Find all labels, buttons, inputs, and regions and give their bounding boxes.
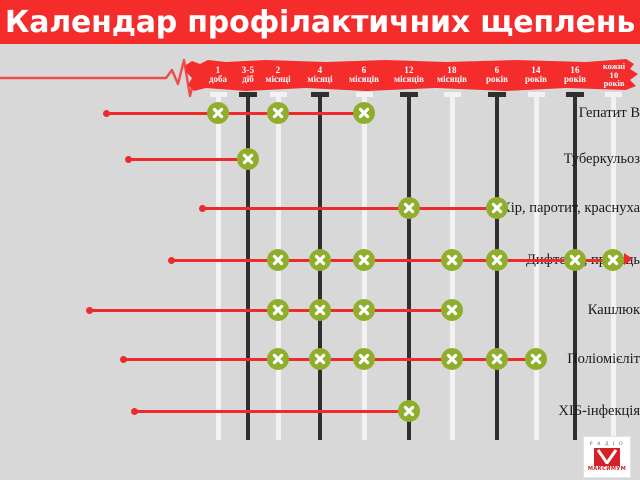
vaccine-row: Поліомієліт: [0, 346, 640, 372]
page-title: Календар профілактичних щеплень: [0, 0, 640, 44]
column-header-unit: доба: [209, 75, 227, 84]
dose-marker[interactable]: [602, 249, 624, 271]
grid-pin-head: [528, 92, 545, 97]
dose-marker[interactable]: [237, 148, 259, 170]
grid-pin-head: [311, 92, 329, 97]
dose-marker[interactable]: [353, 102, 375, 124]
vaccine-row: ХІБ-інфекція: [0, 398, 640, 424]
vaccine-row: Дифтерія, правець: [0, 247, 640, 273]
infographic-canvas: Календар профілактичних щеплень 1 доба 3…: [0, 0, 640, 480]
dose-marker[interactable]: [441, 348, 463, 370]
dose-marker[interactable]: [353, 299, 375, 321]
grid-pin-head: [605, 92, 622, 97]
column-header-4: 4 місяці: [296, 59, 344, 91]
dose-marker[interactable]: [353, 249, 375, 271]
dose-marker[interactable]: [267, 299, 289, 321]
dose-marker[interactable]: [441, 249, 463, 271]
grid-pin-head: [356, 92, 373, 97]
column-header-5: 6 місяців: [339, 59, 389, 91]
title-banner: Календар профілактичних щеплень: [0, 0, 640, 44]
column-header-8: 6 років: [475, 59, 519, 91]
grid-pin-head: [210, 92, 227, 97]
column-header-11: кожні 10 років: [591, 57, 637, 93]
dose-marker[interactable]: [309, 299, 331, 321]
dose-marker[interactable]: [309, 348, 331, 370]
dose-marker[interactable]: [267, 348, 289, 370]
column-header-9: 14 років: [514, 59, 558, 91]
dose-marker[interactable]: [207, 102, 229, 124]
column-header-unit: місяців: [437, 75, 467, 84]
dose-marker[interactable]: [486, 348, 508, 370]
dose-marker[interactable]: [353, 348, 375, 370]
column-header-unit: років: [486, 75, 508, 84]
vaccine-label: Туберкульоз: [518, 146, 640, 172]
grid-pin-head: [239, 92, 257, 97]
row-timeline: [106, 112, 372, 115]
row-arrow-icon: [624, 253, 633, 265]
dose-marker[interactable]: [486, 197, 508, 219]
vaccine-label: Кашлюк: [557, 297, 640, 323]
vaccine-label: Гепатит B: [540, 100, 640, 126]
dose-marker[interactable]: [398, 197, 420, 219]
vaccine-row: Туберкульоз: [0, 146, 640, 172]
vaccine-row: Кір, паротит, краснуха: [0, 195, 640, 221]
dose-marker[interactable]: [398, 400, 420, 422]
column-header-unit: років: [525, 75, 547, 84]
dose-marker[interactable]: [267, 249, 289, 271]
radio-maximum-logo: Р А Д І О МАКСИМУМ: [583, 436, 631, 478]
row-timeline: [171, 259, 625, 262]
grid-pin-head: [444, 92, 461, 97]
row-timeline: [123, 358, 544, 361]
grid-pin-head: [566, 92, 584, 97]
column-header-unit: місяці: [307, 75, 332, 84]
column-header-unit: діб: [242, 75, 254, 84]
column-header-unit: місяців: [349, 75, 379, 84]
dose-marker[interactable]: [309, 249, 331, 271]
column-header-3: 2 місяці: [254, 59, 302, 91]
column-header-unit: років: [564, 75, 586, 84]
row-timeline: [202, 207, 505, 210]
dose-marker[interactable]: [267, 102, 289, 124]
dose-marker[interactable]: [564, 249, 586, 271]
dose-marker[interactable]: [525, 348, 547, 370]
logo-v-mark-icon: [594, 448, 620, 466]
dose-marker[interactable]: [486, 249, 508, 271]
column-header-unit: місяців: [394, 75, 424, 84]
grid-pin-head: [488, 92, 506, 97]
column-header-unit: років: [604, 79, 625, 88]
dose-marker[interactable]: [441, 299, 463, 321]
logo-name-text: МАКСИМУМ: [588, 467, 626, 472]
row-timeline: [134, 410, 417, 413]
grid-pin-head: [400, 92, 418, 97]
column-header-7: 18 місяців: [427, 59, 477, 91]
vaccine-row: Кашлюк: [0, 297, 640, 323]
logo-radio-text: Р А Д І О: [590, 442, 624, 447]
vaccine-row: Гепатит B: [0, 100, 640, 126]
column-header-unit: місяці: [265, 75, 290, 84]
grid-pin-head: [270, 92, 287, 97]
vaccine-label: ХІБ-інфекція: [512, 398, 640, 424]
